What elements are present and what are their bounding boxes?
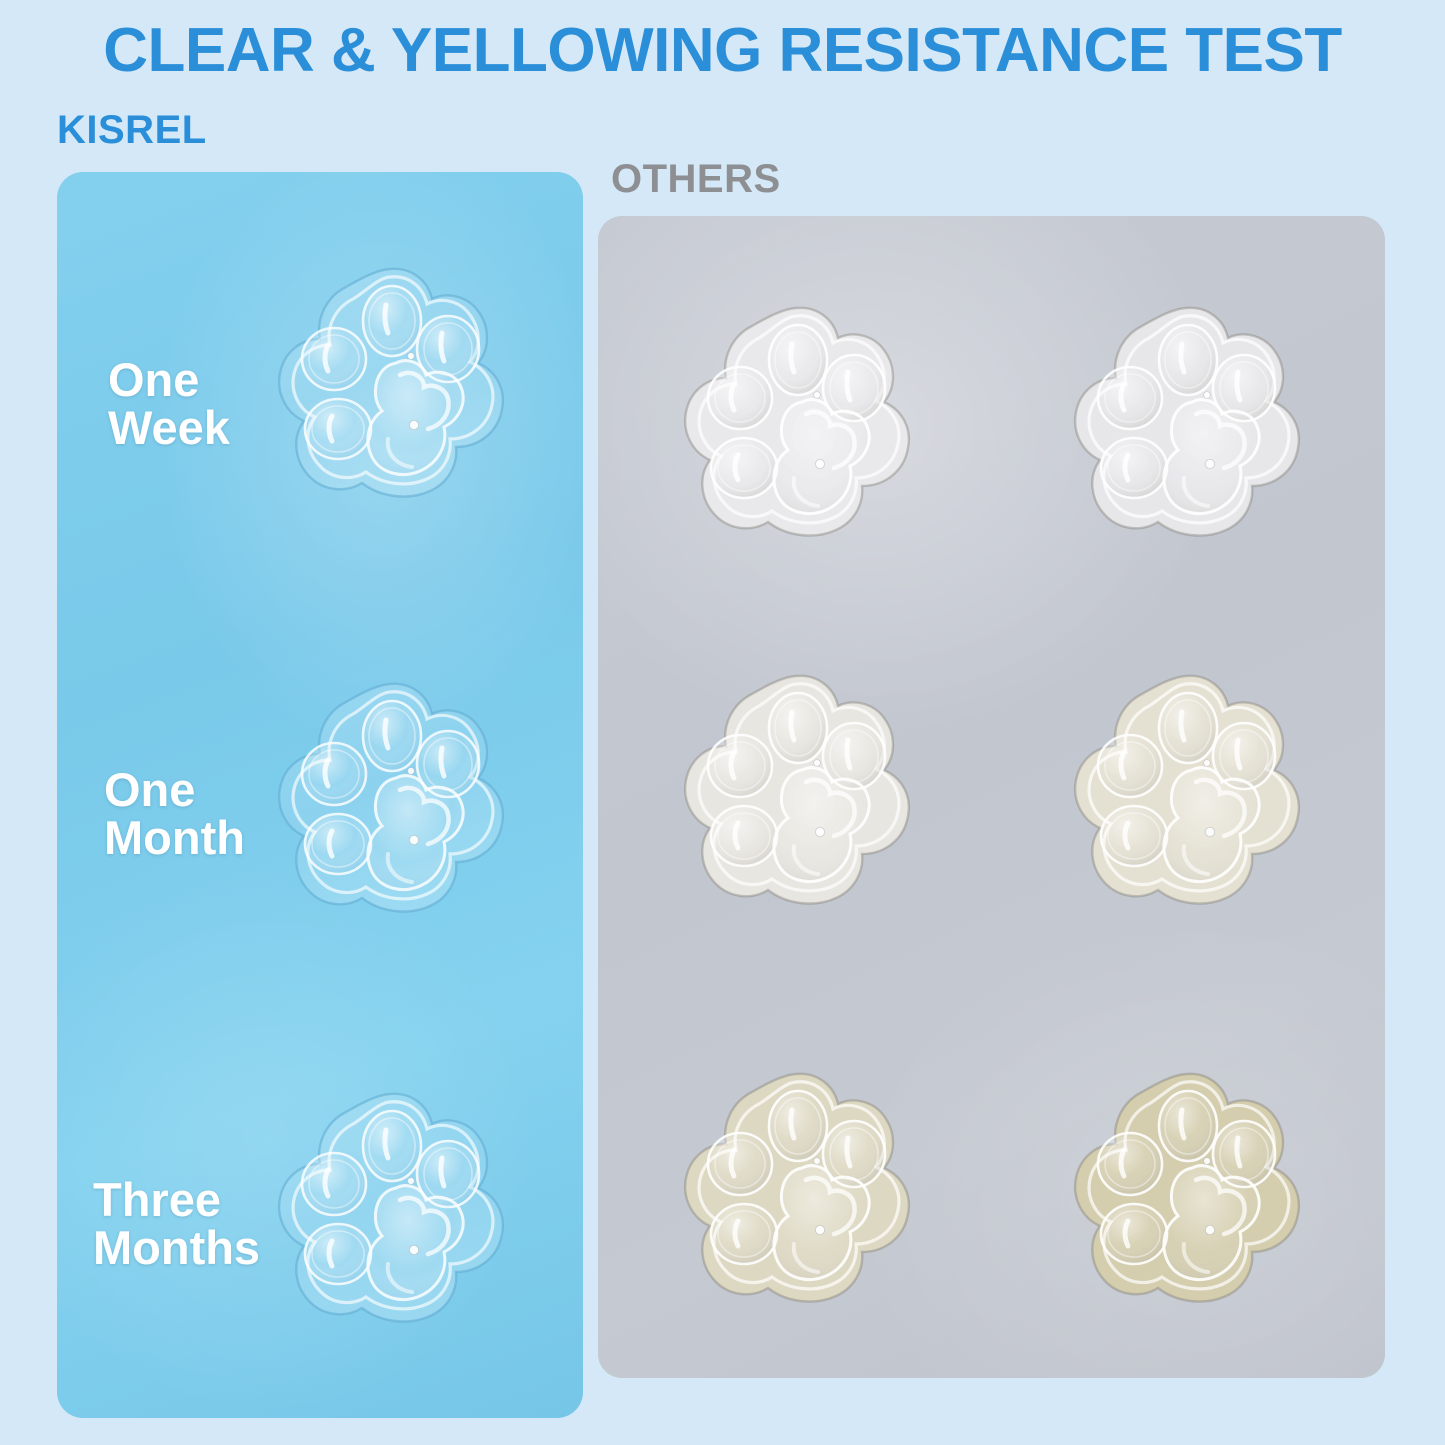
page-title: CLEAR & YELLOWING RESISTANCE TEST [0, 18, 1445, 83]
paw-sample-kisrel-1 [262, 253, 522, 513]
infographic-canvas: CLEAR & YELLOWING RESISTANCE TEST KISREL… [0, 0, 1445, 1445]
paw-sample-others-3 [668, 660, 928, 920]
brand-label-others: OTHERS [611, 157, 781, 202]
paw-sample-others-4 [1058, 660, 1318, 920]
paw-sample-kisrel-3 [262, 1078, 522, 1338]
paw-sample-kisrel-2 [262, 668, 522, 928]
paw-sample-others-2 [1058, 292, 1318, 552]
time-label-three-months: Three Months [93, 1176, 260, 1273]
brand-label-kisrel: KISREL [57, 108, 207, 153]
paw-sample-others-1 [668, 292, 928, 552]
time-label-one-week: One Week [108, 356, 230, 453]
paw-sample-others-5 [668, 1058, 928, 1318]
time-label-one-month: One Month [104, 766, 245, 863]
paw-sample-others-6 [1058, 1058, 1318, 1318]
